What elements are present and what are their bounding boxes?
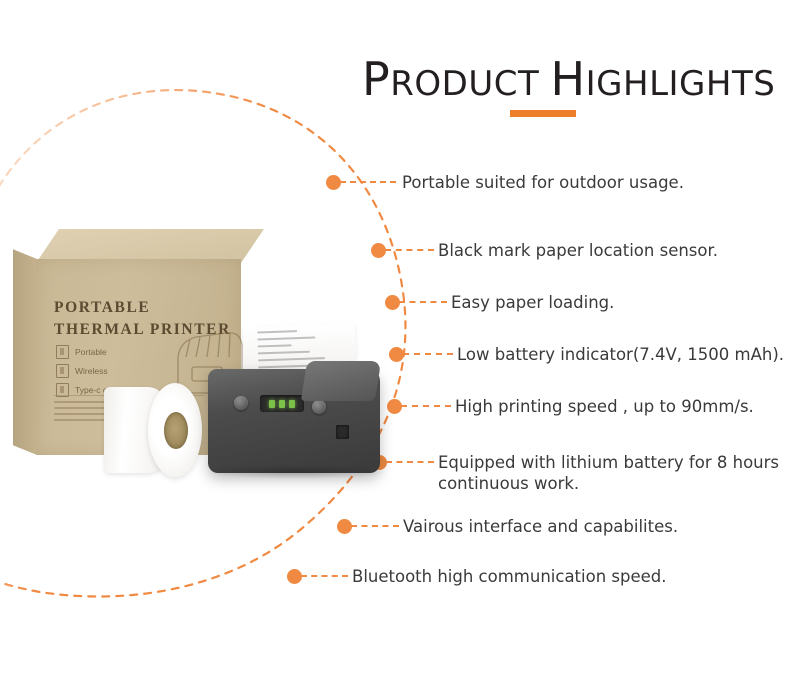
feature-item-lithium-battery: Equipped with lithium battery for 8 hour…	[372, 452, 779, 494]
feature-label: Equipped with lithium battery for 8 hour…	[438, 452, 779, 494]
product-highlights-banner: PRODUCT HIGHLIGHTS Portable suited for o…	[0, 0, 800, 700]
printer-lid	[301, 361, 381, 401]
feature-item-paper-loading: Easy paper loading.	[385, 292, 614, 313]
feature-item-portable: Portable suited for outdoor usage.	[326, 172, 684, 193]
leader-dash-line	[301, 575, 348, 577]
feature-label: Vairous interface and capabilites.	[403, 516, 678, 537]
status-led-icon	[269, 400, 275, 408]
product-photo: PORTABLE THERMAL PRINTER Portable Wirele…	[0, 205, 400, 535]
feature-item-print-speed: High printing speed , up to 90mm/s.	[387, 396, 754, 417]
feature-label: Black mark paper location sensor.	[438, 240, 718, 261]
feature-label: Bluetooth high communication speed.	[352, 566, 667, 587]
box-top-face	[36, 229, 264, 263]
page-title-block: PRODUCT HIGHLIGHTS	[362, 56, 782, 102]
roll-core	[164, 412, 188, 449]
feature-label: Portable suited for outdoor usage.	[402, 172, 684, 193]
thermal-printer-device	[196, 325, 396, 505]
box-feature-label: Wireless	[75, 366, 108, 376]
status-led-icon	[279, 400, 285, 408]
bullet-dot-icon	[287, 569, 302, 584]
leader-dash-line	[401, 405, 451, 407]
page-title: PRODUCT HIGHLIGHTS	[362, 56, 782, 102]
leader-dash-line	[403, 353, 453, 355]
leader-dash-line	[399, 301, 447, 303]
box-feature-portable: Portable	[56, 345, 129, 359]
box-side-face	[13, 249, 37, 455]
feature-label: Easy paper loading.	[451, 292, 614, 313]
page-title-initial: P	[362, 52, 390, 106]
box-feature-wireless: Wireless	[56, 364, 129, 378]
feature-item-black-mark: Black mark paper location sensor.	[371, 240, 718, 261]
title-underline-accent	[510, 110, 576, 117]
page-title-word-one: RODUCT	[390, 64, 539, 104]
usb-port	[336, 425, 349, 439]
box-title-line-1: PORTABLE	[54, 297, 234, 319]
power-button[interactable]	[234, 396, 248, 410]
box-feature-label: Portable	[75, 347, 107, 357]
hand-icon	[56, 345, 69, 359]
feature-item-battery-indicator: Low battery indicator(7.4V, 1500 mAh).	[389, 344, 784, 365]
leader-dash-line	[340, 181, 396, 183]
feed-button[interactable]	[312, 400, 326, 414]
feature-label: High printing speed , up to 90mm/s.	[455, 396, 754, 417]
wireless-icon	[56, 364, 69, 378]
status-led-icon	[289, 400, 295, 408]
feature-label: Low battery indicator(7.4V, 1500 mAh).	[457, 344, 784, 365]
status-led-panel	[260, 395, 304, 412]
page-title-word-two-initial: H	[551, 52, 586, 106]
bullet-dot-icon	[326, 175, 341, 190]
page-title-word-two: IGHLIGHTS	[586, 64, 776, 104]
feature-item-bluetooth: Bluetooth high communication speed.	[287, 566, 667, 587]
printer-shadow	[206, 465, 386, 479]
thermal-paper-roll	[104, 383, 200, 477]
